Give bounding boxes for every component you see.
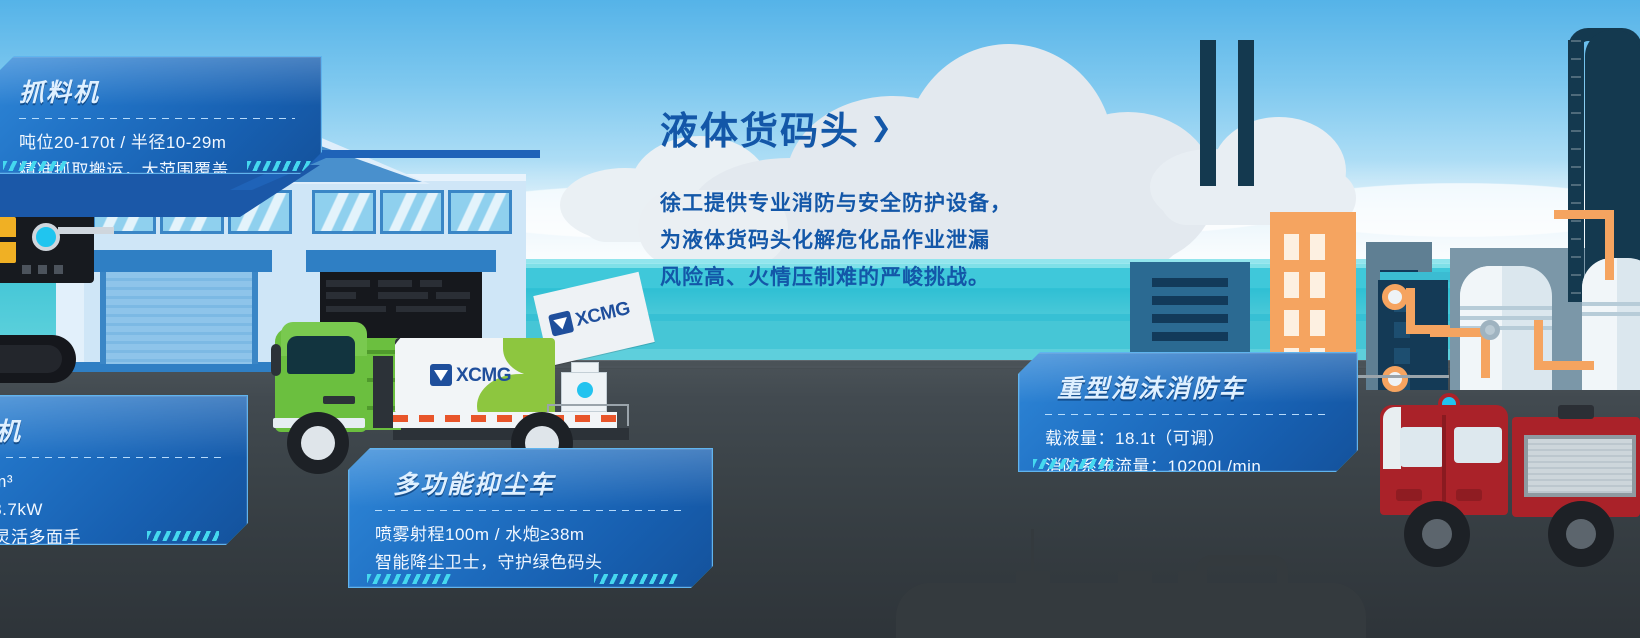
- dust-suppression-truck: XCMG: [265, 300, 655, 460]
- chevron-right-icon[interactable]: ❯: [870, 112, 894, 143]
- card-title: 装载机: [0, 412, 221, 448]
- smokestack: [1238, 40, 1254, 186]
- card-divider: [1045, 414, 1331, 415]
- info-card-grab-machine[interactable]: 抓料机 吨位20-170t / 半径10-29m 精准抓取搬运，大范围覆盖: [0, 56, 322, 174]
- hero-text-block: 液体货码头 ❯ 徐工提供专业消防与安全防护设备， 为液体货码头化解危化品作业泄漏…: [660, 100, 1090, 296]
- pipe-valve: [1480, 320, 1500, 340]
- hazard-stripe: [393, 415, 617, 422]
- hero-line: 为液体货码头化解危化品作业泄漏: [660, 222, 1090, 259]
- hatch-decor: [147, 531, 219, 541]
- page-title-text: 液体货码头: [660, 100, 860, 155]
- card-spec-line: 35.5-53.7kW: [0, 496, 221, 524]
- card-title: 抓料机: [19, 73, 295, 109]
- card-spec-line: 5-0.65m³: [0, 468, 221, 496]
- info-card-loader[interactable]: 装载机 5-0.65m³ 35.5-53.7kW 能手，灵活多面手: [0, 395, 248, 545]
- page-title[interactable]: 液体货码头 ❯: [660, 100, 1090, 155]
- card-spec-line: 智能降尘卫士，守护绿色码头: [375, 549, 686, 577]
- hero-line: 徐工提供专业消防与安全防护设备，: [660, 185, 1090, 222]
- info-card-dust-truck[interactable]: 多功能抑尘车 喷雾射程100m / 水炮≥38m 智能降尘卫士，守护绿色码头: [348, 448, 713, 588]
- card-divider: [0, 457, 221, 458]
- machine-indicator-light: [32, 223, 60, 251]
- hatch-decor: [3, 161, 67, 171]
- xcmg-logo-mark: [430, 364, 452, 386]
- smokestack: [1200, 40, 1216, 186]
- pipe-valve: [1382, 284, 1408, 310]
- card-title: 多功能抑尘车: [393, 465, 686, 501]
- material-handler-machine: [0, 205, 126, 385]
- hatch-decor: [247, 161, 311, 171]
- card-spec-line: 喷雾射程100m / 水炮≥38m: [375, 521, 686, 549]
- info-card-foam-fire-truck[interactable]: 重型泡沫消防车 载液量：18.1t（可调） 消防系统流量：10200L/min …: [1018, 352, 1358, 472]
- hatch-decor: [367, 574, 451, 584]
- storage-tank-silhouette: [896, 583, 1366, 638]
- scene-banner: XCMG XCMG 液体货码头 ❯: [0, 0, 1640, 638]
- card-divider: [375, 510, 686, 511]
- hero-description: 徐工提供专业消防与安全防护设备， 为液体货码头化解危化品作业泄漏 风险高、火情压…: [660, 185, 1090, 296]
- card-spec-line: 载液量：18.1t（可调）: [1045, 425, 1331, 453]
- card-divider: [19, 118, 295, 119]
- fire-truck: [1380, 405, 1640, 585]
- card-spec-line: 吨位20-170t / 半径10-29m: [19, 129, 295, 157]
- card-title: 重型泡沫消防车: [1057, 369, 1331, 405]
- hatch-decor: [1033, 459, 1113, 469]
- hero-line: 风险高、火情压制难的严峻挑战。: [660, 259, 1090, 296]
- xcmg-logo-text: XCMG: [456, 366, 511, 385]
- hatch-decor: [594, 574, 678, 584]
